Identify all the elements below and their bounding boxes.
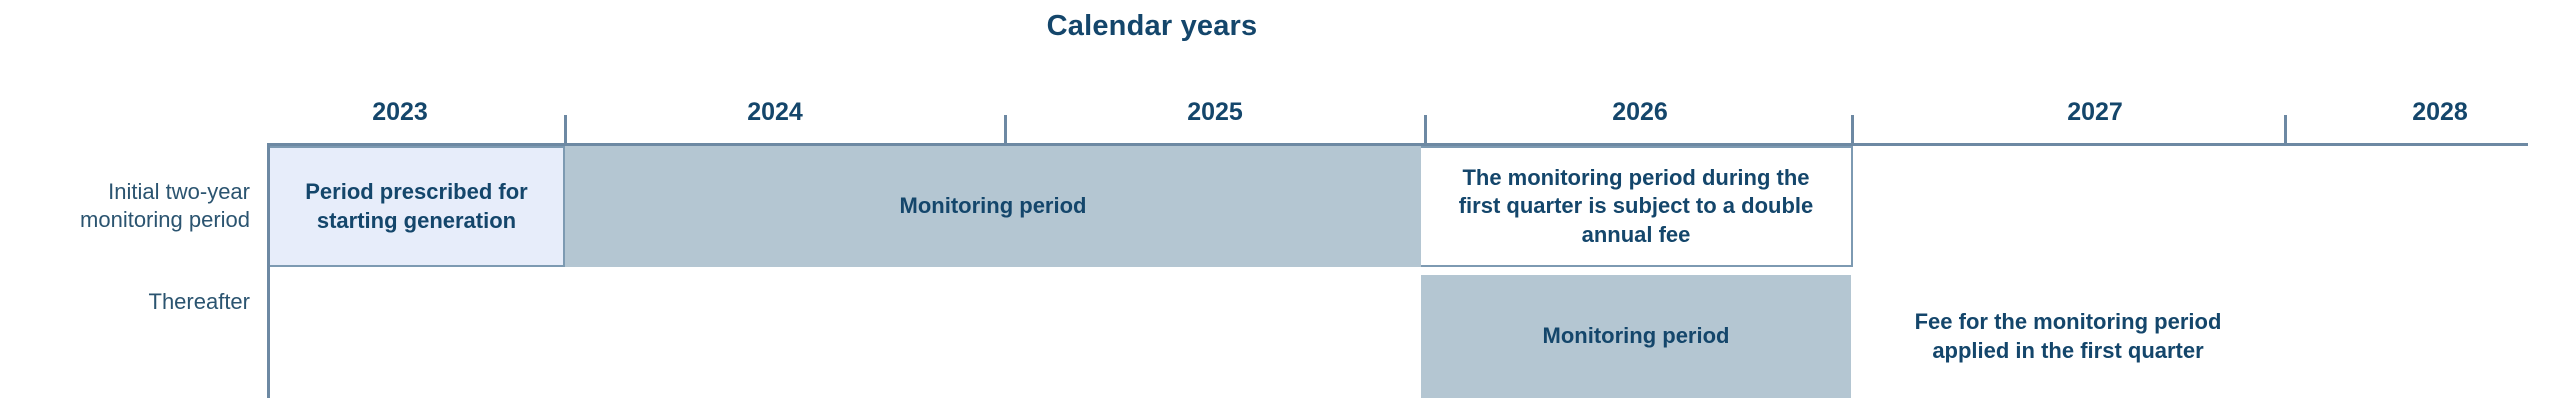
year-tick-2026	[1424, 115, 1427, 145]
note-double-annual-fee: The monitoring period during thefirst qu…	[1421, 146, 1853, 267]
bar-monitoring-period-thereafter: Monitoring period	[1421, 275, 1851, 398]
year-label-2027: 2027	[2005, 98, 2185, 127]
year-tick-2027	[1851, 115, 1854, 145]
year-label-2026: 2026	[1550, 98, 1730, 127]
year-label-2023: 2023	[310, 98, 490, 127]
note-fee-applied-first-quarter: Fee for the monitoring periodapplied in …	[1853, 275, 2283, 398]
page-title: Calendar years	[0, 10, 2432, 43]
year-label-2024: 2024	[685, 98, 865, 127]
year-label-2028: 2028	[2350, 98, 2530, 127]
year-label-2025: 2025	[1125, 98, 1305, 127]
row-label-thereafter: Thereafter	[0, 288, 250, 316]
bar-monitoring-period-initial: Monitoring period	[565, 146, 1421, 267]
timeline-diagram: Calendar years 2023 2024 2025 2026 2027 …	[0, 0, 2560, 400]
row-label-initial-two-year-monitoring-period: Initial two-yearmonitoring period	[0, 178, 250, 234]
bar-period-prescribed-for-starting-generation: Period prescribed forstarting generation	[270, 146, 565, 267]
year-tick-2024	[564, 115, 567, 145]
year-axis-header: 2023 2024 2025 2026 2027 2028	[0, 98, 2560, 138]
year-tick-2028	[2284, 115, 2287, 145]
year-tick-2025	[1004, 115, 1007, 145]
